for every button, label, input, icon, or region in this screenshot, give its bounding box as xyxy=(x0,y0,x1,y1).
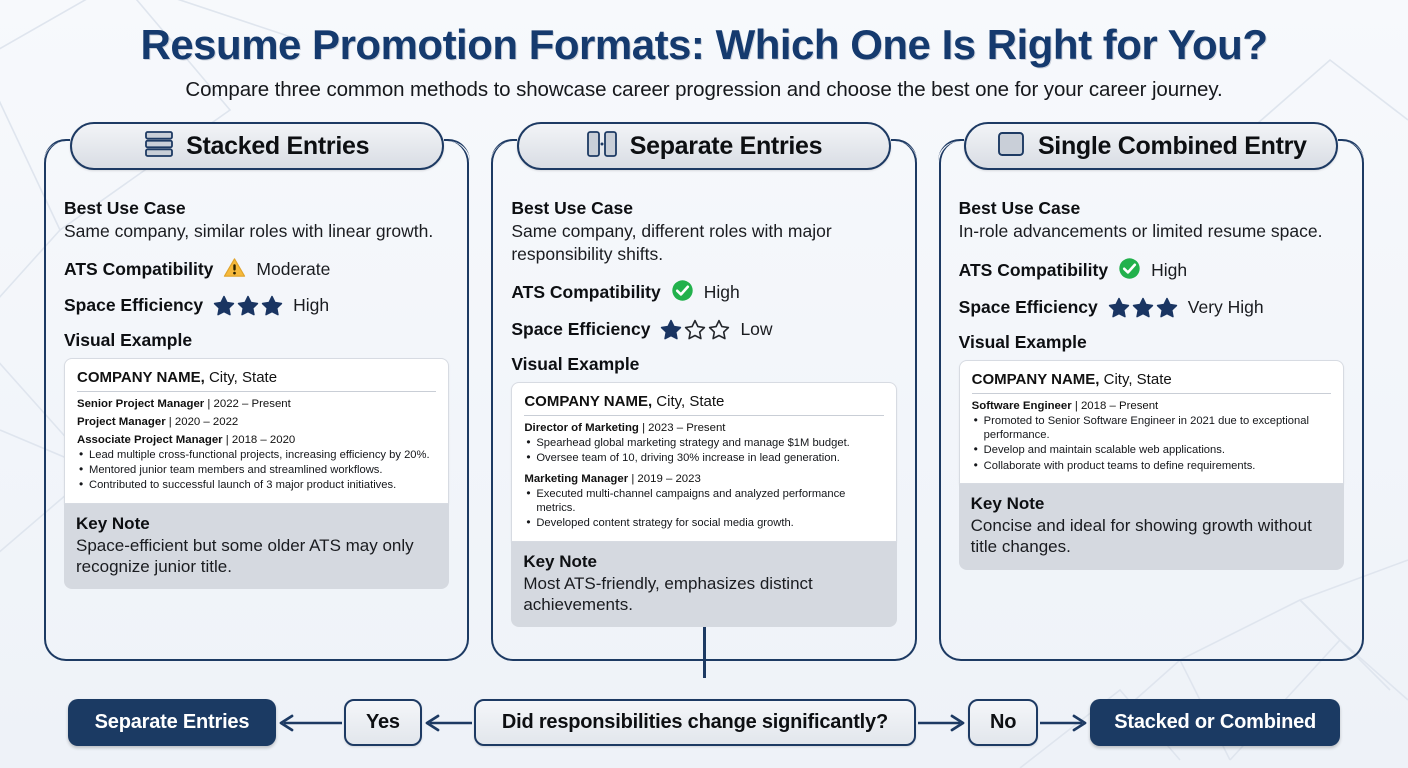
star-rating xyxy=(660,319,730,340)
star-rating xyxy=(213,295,283,316)
star-filled-icon xyxy=(237,295,259,316)
resume-bullet: Oversee team of 10, driving 30% increase… xyxy=(524,451,883,465)
star-filled-icon xyxy=(1156,297,1178,318)
resume-bullet: Lead multiple cross-functional projects,… xyxy=(77,448,436,462)
resume-role-block: Marketing Manager | 2019 – 2023Executed … xyxy=(524,473,883,531)
space-efficiency-value: Low xyxy=(740,319,772,340)
star-filled-icon xyxy=(1108,297,1130,318)
column-body: Best Use Case In-role advancements or li… xyxy=(939,170,1364,570)
visual-example-label: Visual Example xyxy=(959,332,1344,353)
ats-compatibility-row: ATS Compatibility High xyxy=(959,257,1344,285)
flow-question[interactable]: Did responsibilities change significantl… xyxy=(474,699,916,746)
resume-role-block: Software Engineer | 2018 – PresentPromot… xyxy=(972,400,1331,473)
resume-bullet-list: Executed multi-channel campaigns and ana… xyxy=(524,487,883,531)
best-use-case-field: Best Use Case Same company, different ro… xyxy=(511,198,896,265)
key-note-label: Key Note xyxy=(523,552,884,572)
flow-branch-no[interactable]: No xyxy=(968,699,1038,746)
resume-role-block: Senior Project Manager | 2022 – PresentP… xyxy=(77,398,436,493)
ats-compatibility-value: Moderate xyxy=(256,259,330,280)
arrow-right-icon xyxy=(1038,713,1090,733)
star-filled-icon xyxy=(660,319,682,340)
arrow-left-icon xyxy=(276,713,344,733)
resume-bullet: Executed multi-channel campaigns and ana… xyxy=(524,487,883,516)
key-note-box: Key Note Most ATS-friendly, emphasizes d… xyxy=(511,542,896,628)
two-panels-icon xyxy=(586,130,618,163)
flow-branch-yes[interactable]: Yes xyxy=(344,699,422,746)
ats-compatibility-row: ATS Compatibility Moderate xyxy=(64,257,449,283)
resume-company-line: COMPANY NAME, City, State xyxy=(77,369,436,392)
infographic-root: Resume Promotion Formats: Which One Is R… xyxy=(0,0,1408,768)
resume-bullet: Developed content strategy for social me… xyxy=(524,516,883,530)
resume-bullet-list: Spearhead global marketing strategy and … xyxy=(524,436,883,466)
key-note-label: Key Note xyxy=(76,514,437,534)
resume-company-name: COMPANY NAME, xyxy=(77,369,205,386)
star-empty-icon xyxy=(684,319,706,340)
key-note-label: Key Note xyxy=(971,494,1332,514)
resume-company-location: City, State xyxy=(205,369,277,386)
resume-role-line: Project Manager | 2020 – 2022 xyxy=(77,416,436,428)
ats-compatibility-row: ATS Compatibility High xyxy=(511,279,896,307)
best-use-case-label: Best Use Case xyxy=(511,198,896,219)
resume-bullet: Collaborate with product teams to define… xyxy=(972,459,1331,473)
pill-label: Stacked Entries xyxy=(186,132,369,161)
space-efficiency-label: Space Efficiency xyxy=(511,319,650,340)
star-filled-icon xyxy=(213,295,235,316)
key-note-value: Concise and ideal for showing growth wit… xyxy=(971,515,1332,558)
best-use-case-field: Best Use Case In-role advancements or li… xyxy=(959,198,1344,242)
best-use-case-value: Same company, different roles with major… xyxy=(511,220,896,265)
column-header-pill-stacked[interactable]: Stacked Entries xyxy=(70,122,444,170)
decision-flow: Separate Entries Yes Did responsibilitie… xyxy=(0,699,1408,746)
best-use-case-value: Same company, similar roles with linear … xyxy=(64,220,449,242)
key-note-box: Key Note Space-efficient but some older … xyxy=(64,504,449,590)
space-efficiency-value: High xyxy=(293,295,329,316)
check-circle-icon xyxy=(671,279,694,307)
ats-compatibility-value: High xyxy=(704,282,740,303)
resume-example-card: COMPANY NAME, City, State Senior Project… xyxy=(64,358,449,504)
resume-blocks: Software Engineer | 2018 – PresentPromot… xyxy=(972,400,1331,473)
key-note-value: Most ATS-friendly, emphasizes distinct a… xyxy=(523,573,884,616)
resume-company-name: COMPANY NAME, xyxy=(972,371,1100,388)
star-filled-icon xyxy=(1132,297,1154,318)
space-efficiency-row: Space Efficiency High xyxy=(64,295,449,316)
comparison-columns: Stacked Entries Best Use Case Same compa… xyxy=(0,122,1408,627)
resume-bullet: Promoted to Senior Software Engineer in … xyxy=(972,414,1331,443)
column-body: Best Use Case Same company, similar role… xyxy=(44,170,469,589)
resume-role-line: Software Engineer | 2018 – Present xyxy=(972,400,1331,412)
column-body: Best Use Case Same company, different ro… xyxy=(491,170,916,627)
space-efficiency-row: Space Efficiency Low xyxy=(511,319,896,340)
resume-bullet: Contributed to successful launch of 3 ma… xyxy=(77,478,436,492)
arrow-right-icon xyxy=(916,713,968,733)
resume-example-card: COMPANY NAME, City, State Director of Ma… xyxy=(511,382,896,542)
resume-company-location: City, State xyxy=(1099,371,1171,388)
key-note-value: Space-efficient but some older ATS may o… xyxy=(76,535,437,578)
flow-result-stacked-or-combined[interactable]: Stacked or Combined xyxy=(1090,699,1340,746)
resume-company-name: COMPANY NAME, xyxy=(524,393,652,410)
column-single-combined-entry: Single Combined Entry Best Use Case In-r… xyxy=(939,122,1364,570)
column-header-pill-separate[interactable]: Separate Entries xyxy=(517,122,891,170)
stacked-bars-icon xyxy=(144,130,174,163)
star-empty-icon xyxy=(708,319,730,340)
resume-company-line: COMPANY NAME, City, State xyxy=(524,393,883,416)
resume-bullet: Mentored junior team members and streaml… xyxy=(77,463,436,477)
flow-result-separate-entries[interactable]: Separate Entries xyxy=(68,699,276,746)
ats-compatibility-value: High xyxy=(1151,260,1187,281)
best-use-case-label: Best Use Case xyxy=(959,198,1344,219)
column-separate-entries: Separate Entries Best Use Case Same comp… xyxy=(491,122,916,627)
space-efficiency-label: Space Efficiency xyxy=(959,297,1098,318)
space-efficiency-label: Space Efficiency xyxy=(64,295,203,316)
resume-role-line: Senior Project Manager | 2022 – Present xyxy=(77,398,436,410)
resume-role-line: Director of Marketing | 2023 – Present xyxy=(524,422,883,434)
resume-bullet-list: Promoted to Senior Software Engineer in … xyxy=(972,414,1331,473)
space-efficiency-value: Very High xyxy=(1188,297,1264,318)
resume-bullet-list: Lead multiple cross-functional projects,… xyxy=(77,448,436,493)
check-circle-icon xyxy=(1118,257,1141,285)
key-note-box: Key Note Concise and ideal for showing g… xyxy=(959,484,1344,570)
ats-compatibility-label: ATS Compatibility xyxy=(959,260,1108,281)
column-header-pill-combined[interactable]: Single Combined Entry xyxy=(964,122,1338,170)
star-filled-icon xyxy=(261,295,283,316)
header: Resume Promotion Formats: Which One Is R… xyxy=(0,0,1408,102)
resume-blocks: Senior Project Manager | 2022 – PresentP… xyxy=(77,398,436,493)
best-use-case-field: Best Use Case Same company, similar role… xyxy=(64,198,449,242)
resume-role-line: Associate Project Manager | 2018 – 2020 xyxy=(77,434,436,446)
resume-bullet: Develop and maintain scalable web applic… xyxy=(972,443,1331,457)
resume-role-block: Director of Marketing | 2023 – PresentSp… xyxy=(524,422,883,466)
resume-role-line: Marketing Manager | 2019 – 2023 xyxy=(524,473,883,485)
warning-icon xyxy=(223,257,246,283)
page-subtitle: Compare three common methods to showcase… xyxy=(0,78,1408,102)
resume-example-card: COMPANY NAME, City, State Software Engin… xyxy=(959,360,1344,484)
column-stacked-entries: Stacked Entries Best Use Case Same compa… xyxy=(44,122,469,589)
resume-company-location: City, State xyxy=(652,393,724,410)
page-title: Resume Promotion Formats: Which One Is R… xyxy=(0,22,1408,68)
space-efficiency-row: Space Efficiency Very High xyxy=(959,297,1344,318)
resume-bullet: Spearhead global marketing strategy and … xyxy=(524,436,883,450)
resume-company-line: COMPANY NAME, City, State xyxy=(972,371,1331,394)
visual-example-label: Visual Example xyxy=(64,330,449,351)
pill-label: Single Combined Entry xyxy=(1038,132,1307,161)
star-rating xyxy=(1108,297,1178,318)
resume-blocks: Director of Marketing | 2023 – PresentSp… xyxy=(524,422,883,531)
single-panel-icon xyxy=(996,130,1026,163)
ats-compatibility-label: ATS Compatibility xyxy=(511,282,660,303)
pill-label: Separate Entries xyxy=(630,132,823,161)
ats-compatibility-label: ATS Compatibility xyxy=(64,259,213,280)
visual-example-label: Visual Example xyxy=(511,354,896,375)
arrow-left-icon xyxy=(422,713,474,733)
best-use-case-label: Best Use Case xyxy=(64,198,449,219)
best-use-case-value: In-role advancements or limited resume s… xyxy=(959,220,1344,242)
